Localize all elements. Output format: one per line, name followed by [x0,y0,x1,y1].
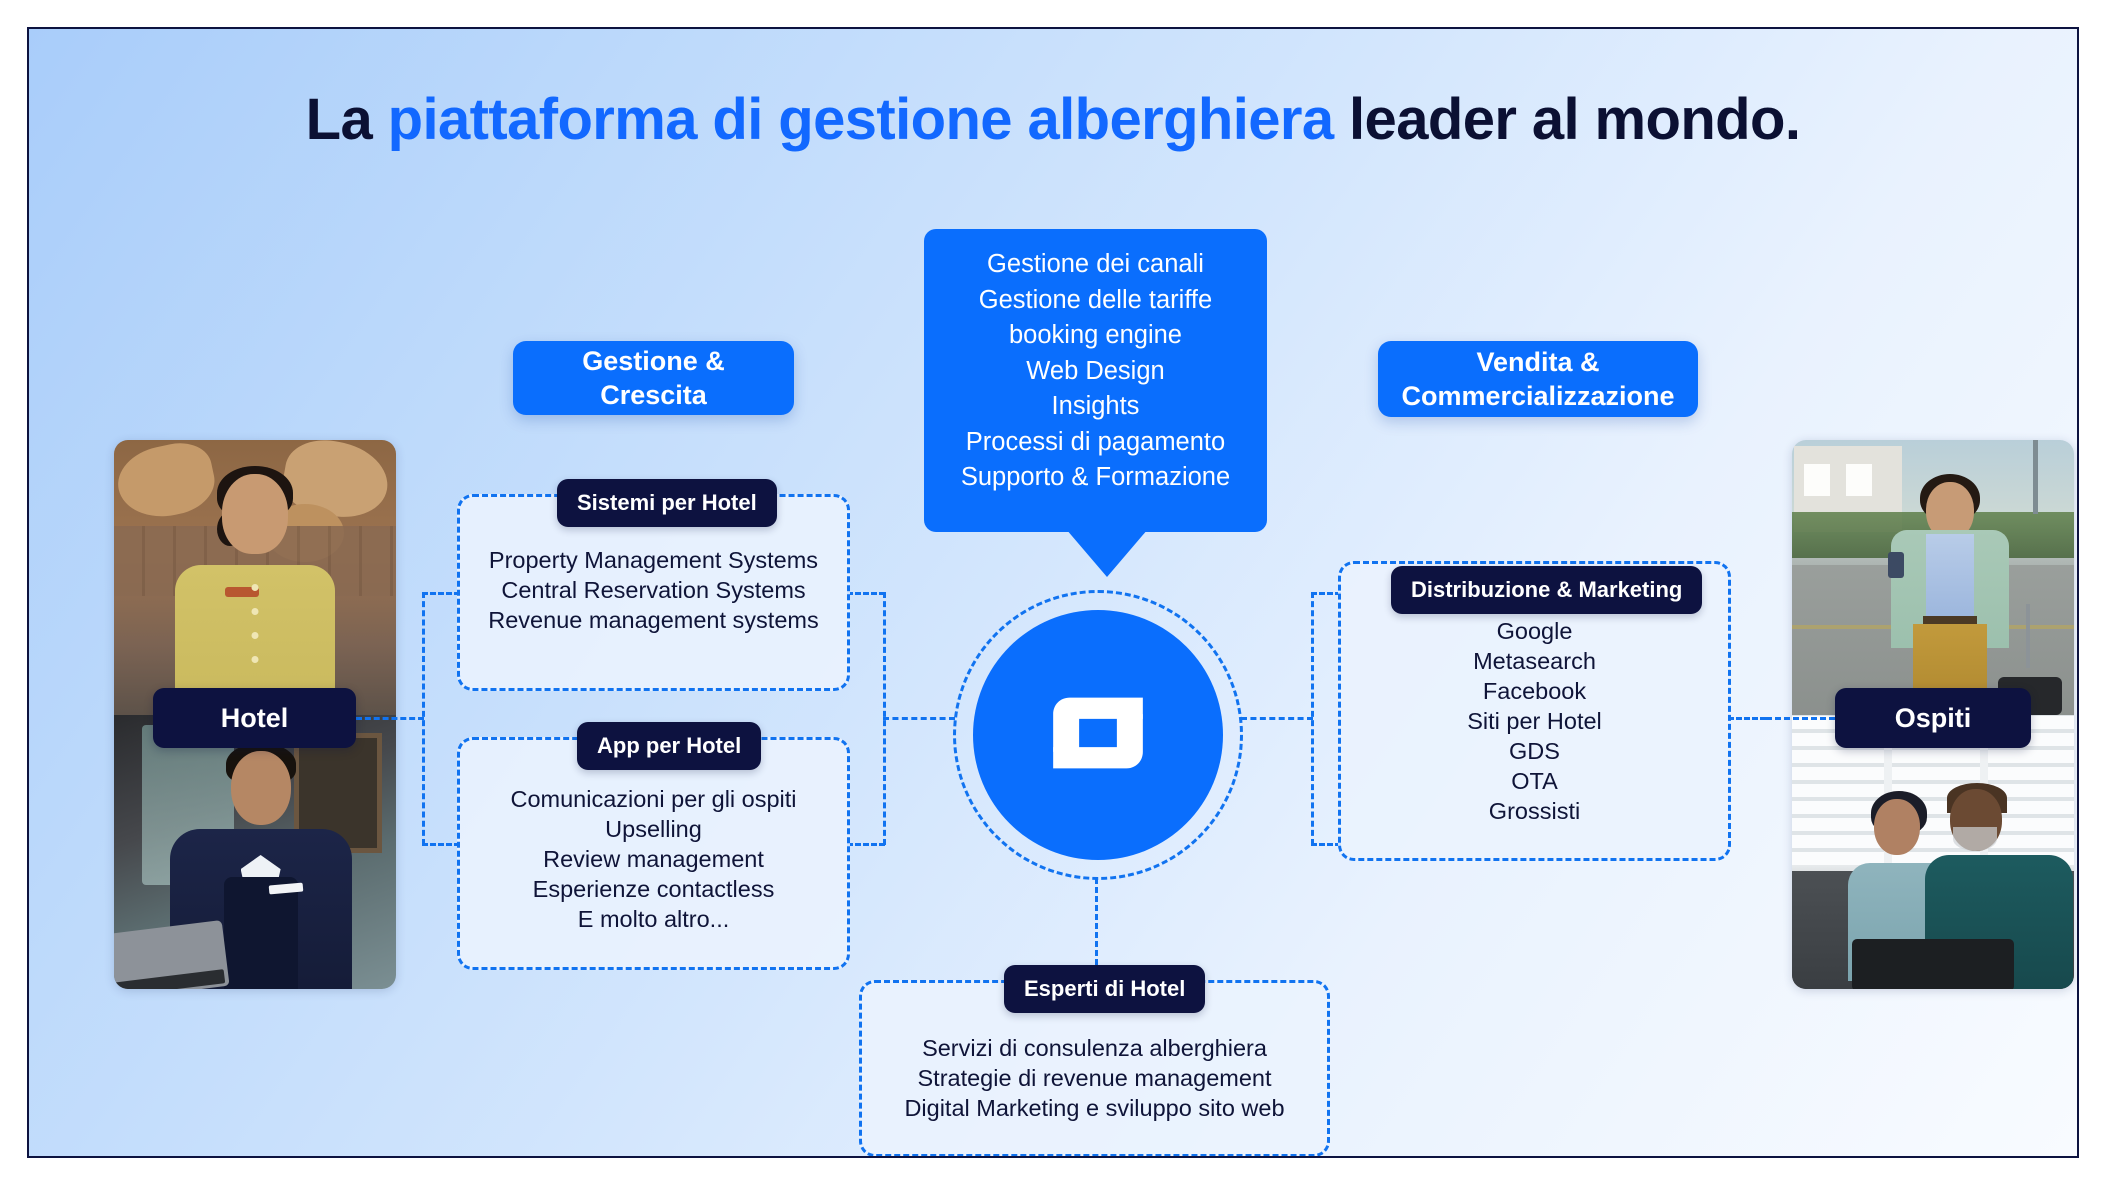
panel-item: GDS [1341,736,1728,766]
panel-item: Revenue management systems [460,605,847,635]
callout-item: Gestione dei canali [924,247,1267,283]
connector-app-to-center [847,843,885,846]
panel-item: Facebook [1341,676,1728,706]
category-pill-gestione-crescita[interactable]: Gestione & Crescita [513,341,794,415]
connector-distribuzione-to-ospiti [1728,717,1766,720]
callout-item: Supporto & Formazione [924,460,1267,496]
title-prefix: La [306,87,388,152]
guest-traveller-woman-photo [1792,440,2074,715]
panel-item: Property Management Systems [460,545,847,575]
panel-item: Grossisti [1341,796,1728,826]
persona-ospiti-text: Ospiti [1895,703,1972,734]
callout-item: Web Design [924,354,1267,390]
category-left-line2: Crescita [582,378,725,412]
callout-item: booking engine [924,318,1267,354]
platform-capabilities-callout: Gestione dei canali Gestione delle tarif… [924,229,1267,532]
connector-right-bracket-top [1311,592,1341,595]
panel-item: E molto altro... [460,904,847,934]
callout-item: Gestione delle tariffe [924,283,1267,319]
panel-tag-text: Distribuzione & Marketing [1411,577,1682,603]
connector-ospiti-stub [1766,717,1835,720]
connector-left-bracket-bottom [422,843,460,846]
mews-logo-icon [1039,674,1157,797]
panel-item: Review management [460,844,847,874]
callout-tail-pointer [1066,529,1148,577]
category-left-line1: Gestione & [582,344,725,378]
panel-tag-text: App per Hotel [597,733,741,759]
panel-item: OTA [1341,766,1728,796]
callout-item: Processi di pagamento [924,425,1267,461]
connector-hotel-to-left-bracket [356,717,424,720]
panel-app-per-hotel: Comunicazioni per gli ospiti Upselling R… [457,737,850,970]
panel-item: Digital Marketing e sviluppo sito web [862,1093,1327,1123]
panel-tag-app-per-hotel[interactable]: App per Hotel [577,722,761,770]
panel-item: Upselling [460,814,847,844]
panel-item: Metasearch [1341,646,1728,676]
hotel-staff-woman-photo [114,440,396,715]
panel-item: Siti per Hotel [1341,706,1728,736]
panel-tag-text: Sistemi per Hotel [577,490,757,516]
category-pill-vendita-commercializzazione[interactable]: Vendita & Commercializzazione [1378,341,1698,417]
panel-item: Strategie di revenue management [862,1063,1327,1093]
callout-item: Insights [924,389,1267,425]
panel-item: Esperienze contactless [460,874,847,904]
connector-left-bracket-top [422,592,460,595]
panel-tag-esperti-di-hotel[interactable]: Esperti di Hotel [1004,965,1205,1013]
panel-item: Comunicazioni per gli ospiti [460,784,847,814]
guest-couple-laptop-photo [1792,715,2074,990]
category-right-line1: Vendita & [1401,345,1674,379]
connector-right-bracket-bottom [1311,843,1341,846]
category-right-line2: Commercializzazione [1401,379,1674,413]
diagram-canvas: La piattaforma di gestione alberghiera l… [27,27,2079,1158]
mews-logo-circle[interactable] [973,610,1223,860]
page-title: La piattaforma di gestione alberghiera l… [29,86,2077,153]
panel-tag-text: Esperti di Hotel [1024,976,1185,1002]
persona-label-ospiti[interactable]: Ospiti [1835,688,2031,748]
panel-item: Google [1341,616,1728,646]
panel-tag-distribuzione-marketing[interactable]: Distribuzione & Marketing [1391,566,1702,614]
connector-center-right-stub [1241,717,1313,720]
hotel-concierge-man-photo [114,715,396,990]
connector-left-bracket-vertical [422,592,425,845]
connector-sistemi-to-center [847,592,885,595]
panel-item: Servizi di consulenza alberghiera [862,1033,1327,1063]
title-highlight: piattaforma di gestione alberghiera [388,87,1334,152]
persona-hotel-text: Hotel [221,703,289,734]
panel-tag-sistemi-per-hotel[interactable]: Sistemi per Hotel [557,479,777,527]
connector-center-left-stub [883,717,955,720]
connector-center-right-vertical [1311,592,1314,845]
persona-label-hotel[interactable]: Hotel [153,688,356,748]
panel-item: Central Reservation Systems [460,575,847,605]
title-suffix: leader al mondo. [1334,87,1801,152]
